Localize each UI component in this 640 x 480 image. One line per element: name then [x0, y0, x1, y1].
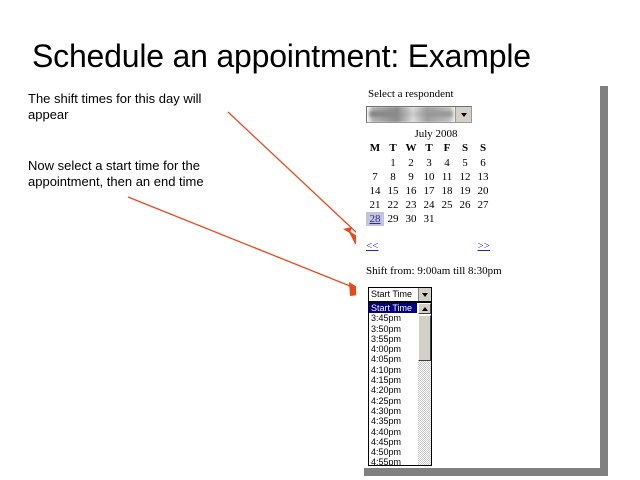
list-item[interactable]: 4:00pm	[369, 344, 417, 354]
page-title: Schedule an appointment: Example	[32, 38, 612, 75]
calendar-day[interactable]: 16	[402, 184, 420, 198]
calendar-day[interactable]: 15	[384, 184, 402, 198]
list-item[interactable]: Start Time	[369, 303, 417, 313]
calendar-day[interactable]: 6	[474, 156, 492, 170]
list-item[interactable]: 4:40pm	[369, 427, 417, 437]
calendar-day[interactable]	[366, 156, 384, 170]
calendar-weekday-header-row: M T W T F S S	[366, 142, 492, 156]
list-item[interactable]: 4:20pm	[369, 385, 417, 395]
chevron-down-icon[interactable]	[455, 107, 471, 122]
calendar-week-row: 21 22 23 24 25 26 27	[366, 198, 492, 212]
calendar-day[interactable]: 30	[402, 212, 420, 226]
start-time-selected-value: Start Time	[369, 288, 418, 301]
calendar-day[interactable]: 13	[474, 170, 492, 184]
calendar-day[interactable]: 20	[474, 184, 492, 198]
list-item[interactable]: 4:25pm	[369, 396, 417, 406]
list-item[interactable]: 3:55pm	[369, 334, 417, 344]
calendar-day[interactable]: 27	[474, 198, 492, 212]
weekday-header: T	[384, 142, 402, 156]
calendar-day[interactable]: 19	[456, 184, 474, 198]
calendar-day[interactable]: 25	[438, 198, 456, 212]
calendar-day[interactable]: 1	[384, 156, 402, 170]
arrow-to-calendar-nav	[228, 112, 369, 244]
panel-shadow-right	[600, 86, 608, 468]
respondent-selected-value	[367, 107, 455, 122]
list-item[interactable]: 3:45pm	[369, 313, 417, 323]
calendar-day[interactable]: 5	[456, 156, 474, 170]
calendar-week-row: 7 8 9 10 11 12 13	[366, 170, 492, 184]
calendar-day[interactable]: 23	[402, 198, 420, 212]
arrow-to-start-time-dropdown	[128, 197, 369, 296]
calendar-day[interactable]: 3	[420, 156, 438, 170]
respondent-select[interactable]	[366, 106, 472, 123]
list-item[interactable]: 4:55pm	[369, 457, 417, 465]
calendar-day[interactable]: 11	[438, 170, 456, 184]
calendar-week-row: 14 15 16 17 18 19 20	[366, 184, 492, 198]
list-item[interactable]: 4:15pm	[369, 375, 417, 385]
calendar-week-row: 1 2 3 4 5 6	[366, 156, 492, 170]
calendar-day[interactable]: 10	[420, 170, 438, 184]
calendar-day[interactable]: 14	[366, 184, 384, 198]
calendar-day[interactable]	[456, 212, 474, 226]
calendar-day[interactable]: 18	[438, 184, 456, 198]
shift-hours-text: Shift from: 9:00am till 8:30pm	[366, 265, 502, 277]
calendar-navigation: << >>	[366, 240, 490, 252]
scrollbar-track[interactable]	[418, 361, 431, 465]
calendar: July 2008 M T W T F S S 1 2 3	[366, 128, 492, 226]
calendar-day-selected[interactable]: 28	[366, 212, 384, 226]
start-time-dropdown-list[interactable]: Start Time 3:45pm 3:50pm 3:55pm 4:00pm 4…	[368, 302, 432, 466]
calendar-month-label: July 2008	[366, 128, 492, 140]
list-item[interactable]: 4:30pm	[369, 406, 417, 416]
scrollbar-thumb[interactable]	[418, 315, 431, 361]
calendar-day[interactable]: 29	[384, 212, 402, 226]
annotation-select-start-time: Now select a start time for the appointm…	[28, 158, 243, 190]
start-time-option-container: Start Time 3:45pm 3:50pm 3:55pm 4:00pm 4…	[369, 303, 417, 465]
calendar-prev-month-link[interactable]: <<	[366, 240, 378, 252]
calendar-day[interactable]	[438, 212, 456, 226]
calendar-day[interactable]: 12	[456, 170, 474, 184]
list-item[interactable]: 4:50pm	[369, 447, 417, 457]
weekday-header: S	[474, 142, 492, 156]
weekday-header: T	[420, 142, 438, 156]
start-time-select[interactable]: Start Time	[368, 287, 432, 302]
list-item[interactable]: 4:05pm	[369, 354, 417, 364]
list-item[interactable]: 4:45pm	[369, 437, 417, 447]
calendar-day[interactable]: 4	[438, 156, 456, 170]
weekday-header: M	[366, 142, 384, 156]
annotation-shift-times: The shift times for this day will appear	[28, 91, 243, 123]
calendar-day[interactable]: 2	[402, 156, 420, 170]
chevron-up-icon[interactable]	[418, 303, 431, 314]
calendar-day[interactable]: 9	[402, 170, 420, 184]
respondent-label: Select a respondent	[368, 88, 454, 100]
calendar-grid: M T W T F S S 1 2 3 4 5 6	[366, 142, 492, 226]
calendar-day[interactable]: 22	[384, 198, 402, 212]
calendar-day[interactable]	[474, 212, 492, 226]
calendar-day[interactable]: 21	[366, 198, 384, 212]
list-item[interactable]: 3:50pm	[369, 324, 417, 334]
list-item[interactable]: 4:35pm	[369, 416, 417, 426]
embedded-screenshot-panel: Select a respondent July 2008 M T W T F …	[356, 84, 600, 468]
calendar-day[interactable]: 26	[456, 198, 474, 212]
weekday-header: F	[438, 142, 456, 156]
calendar-day[interactable]: 8	[384, 170, 402, 184]
list-item[interactable]: 4:10pm	[369, 365, 417, 375]
weekday-header: S	[456, 142, 474, 156]
calendar-day[interactable]: 7	[366, 170, 384, 184]
calendar-day[interactable]: 24	[420, 198, 438, 212]
calendar-day[interactable]: 17	[420, 184, 438, 198]
calendar-week-row: 28 29 30 31	[366, 212, 492, 226]
calendar-next-month-link[interactable]: >>	[478, 240, 490, 252]
calendar-day[interactable]: 31	[420, 212, 438, 226]
dropdown-scrollbar[interactable]	[417, 303, 431, 465]
chevron-down-icon[interactable]	[418, 288, 431, 301]
panel-shadow-bottom	[364, 468, 608, 476]
weekday-header: W	[402, 142, 420, 156]
